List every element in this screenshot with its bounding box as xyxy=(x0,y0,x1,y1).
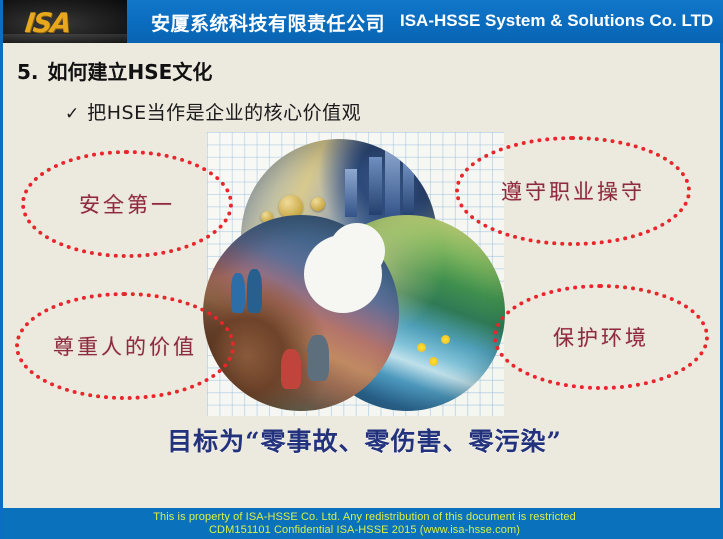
company-name-cn: 安厦系统科技有限责任公司 xyxy=(151,9,385,36)
logo-panel: ISA xyxy=(3,0,127,43)
bullet-item: ✓ 把HSE当作是企业的核心价值观 xyxy=(65,98,361,125)
callout-protect-environment: 保护环境 xyxy=(493,284,709,390)
callout-professional-ethics-label: 遵守职业操守 xyxy=(501,176,645,206)
slide-root: ISA 安厦系统科技有限责任公司 ISA-HSSE System & Solut… xyxy=(0,0,723,539)
footer-line-2: CDM151101 Confidential ISA-HSSE 2015 (ww… xyxy=(3,524,723,537)
collage-center-notch-2 xyxy=(329,223,385,279)
callout-professional-ethics: 遵守职业操守 xyxy=(455,136,691,246)
footer-line-1: This is property of ISA-HSSE Co. Ltd. An… xyxy=(3,511,723,524)
callout-protect-environment-label: 保护环境 xyxy=(553,322,649,352)
page-title-number: 5. xyxy=(17,60,39,84)
callout-safety-first-label: 安全第一 xyxy=(79,189,175,219)
callout-safety-first: 安全第一 xyxy=(21,150,233,258)
isa-logo: ISA xyxy=(23,8,71,39)
goal-caption: 目标为“零事故、零伤害、零污染” xyxy=(3,422,723,458)
bullet-item-label: 把HSE当作是企业的核心价值观 xyxy=(87,98,361,125)
page-title-text: 如何建立HSE文化 xyxy=(48,60,213,84)
slide-footer: This is property of ISA-HSSE Co. Ltd. An… xyxy=(3,508,723,539)
callout-respect-people-label: 尊重人的价值 xyxy=(53,331,197,361)
page-title: 5.如何建立HSE文化 xyxy=(17,56,212,85)
company-name-en: ISA-HSSE System & Solutions Co. LTD xyxy=(400,11,713,31)
callout-respect-people: 尊重人的价值 xyxy=(15,292,235,400)
checkmark-icon: ✓ xyxy=(65,104,79,124)
slide-header: ISA 安厦系统科技有限责任公司 ISA-HSSE System & Solut… xyxy=(3,0,723,43)
